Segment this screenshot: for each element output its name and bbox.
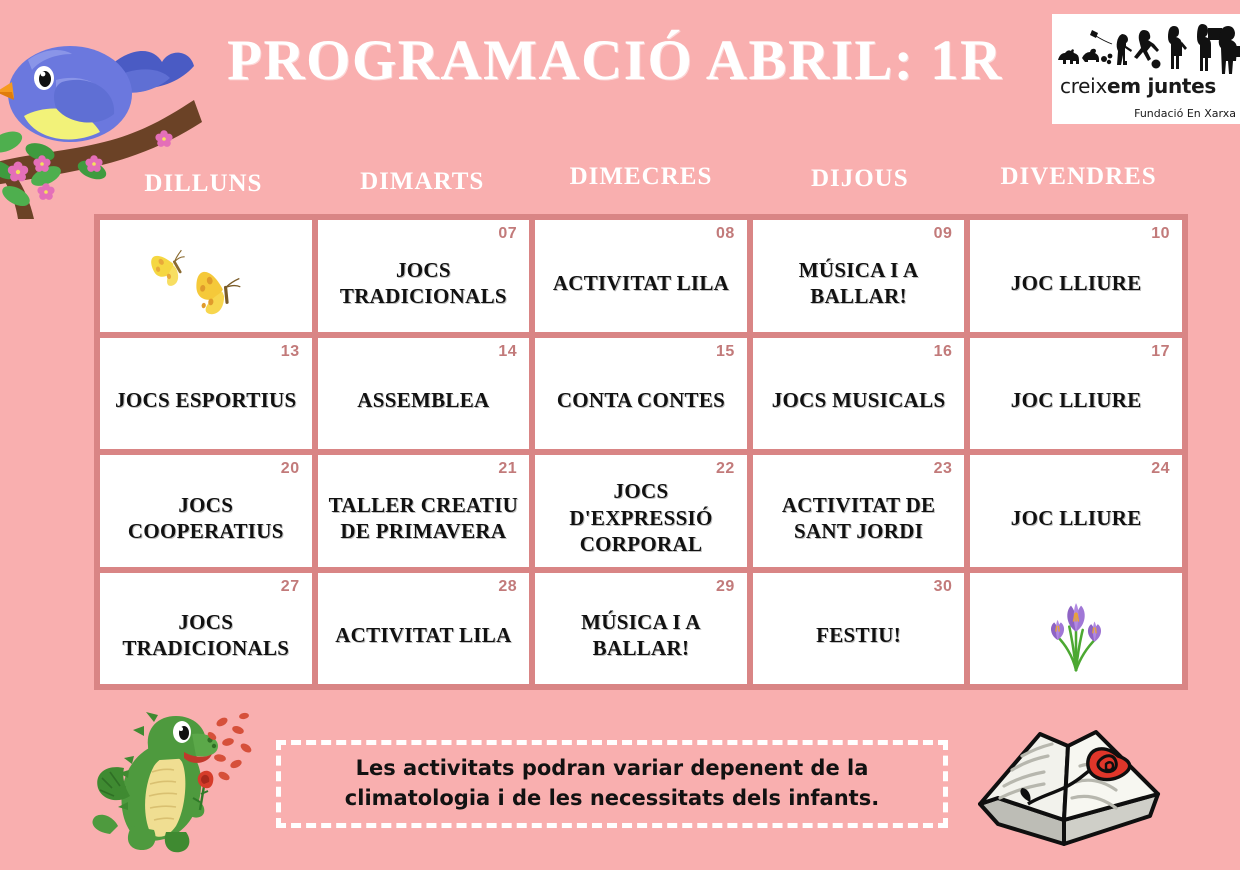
cell-activity-label: JOC LLIURE <box>1011 505 1142 531</box>
calendar-cell[interactable]: 13 JOCS ESPORTIUS <box>100 338 312 450</box>
cell-activity-label: JOCS MUSICALS <box>772 387 946 413</box>
dragon-with-rose-illustration <box>88 706 268 861</box>
calendar-cell[interactable]: 27 JOCS TRADICIONALS <box>100 573 312 685</box>
disclaimer-text: Les activitats podran variar depenent de… <box>303 754 921 814</box>
calendar-cell[interactable]: 08 ACTIVITAT LILA <box>535 220 747 332</box>
cell-activity-label: JOCS ESPORTIUS <box>115 387 296 413</box>
cell-date: 08 <box>716 225 735 243</box>
weekday-dijous: DIJOUS <box>750 163 969 198</box>
calendar-cell[interactable]: 28 ACTIVITAT LILA <box>318 573 530 685</box>
cell-activity-label: JOCS D'EXPRESSIÓ CORPORAL <box>543 478 739 557</box>
cell-activity-label: MÚSICA I A BALLAR! <box>761 257 957 310</box>
calendar-cell[interactable]: 24 JOC LLIURE <box>970 455 1182 567</box>
calendar-cell[interactable]: 30 FESTIU! <box>753 573 965 685</box>
cell-activity-label: ACTIVITAT DE SANT JORDI <box>761 492 957 545</box>
cell-date: 17 <box>1151 343 1170 361</box>
logo-word-part2: em juntes <box>1107 74 1216 98</box>
calendar-cell[interactable]: 14 ASSEMBLEA <box>318 338 530 450</box>
cell-date: 22 <box>716 460 735 478</box>
calendar-cell[interactable]: 23 ACTIVITAT DE SANT JORDI <box>753 455 965 567</box>
weekday-dilluns: DILLUNS <box>94 163 313 198</box>
cell-date: 21 <box>498 460 517 478</box>
cell-date: 29 <box>716 578 735 596</box>
cell-date: 14 <box>498 343 517 361</box>
weekday-header-row: DILLUNS DIMARTS DIMECRES DIJOUS DIVENDRE… <box>94 163 1188 198</box>
cell-date: 10 <box>1151 225 1170 243</box>
calendar-cell[interactable]: 07 JOCS TRADICIONALS <box>318 220 530 332</box>
cell-activity-label: MÚSICA I A BALLAR! <box>543 609 739 662</box>
cell-activity-label: JOC LLIURE <box>1011 270 1142 296</box>
cell-activity-label: JOCS COOPERATIUS <box>108 492 304 545</box>
cell-activity-label: JOCS TRADICIONALS <box>326 257 522 310</box>
crocus-flowers-illustration <box>978 595 1174 677</box>
logo-word-part1: creix <box>1060 74 1107 98</box>
calendar-cell[interactable]: 20 JOCS COOPERATIUS <box>100 455 312 567</box>
cell-activity-label: ASSEMBLEA <box>357 387 489 413</box>
logo-subtitle: Fundació En Xarxa <box>1134 107 1236 120</box>
cell-date: 07 <box>498 225 517 243</box>
cell-date: 15 <box>716 343 735 361</box>
weekday-dimarts: DIMARTS <box>313 163 532 198</box>
calendar-cell[interactable]: 22 JOCS D'EXPRESSIÓ CORPORAL <box>535 455 747 567</box>
cell-activity-label: CONTA CONTES <box>557 387 725 413</box>
calendar-grid: 07 JOCS TRADICIONALS 08 ACTIVITAT LILA 0… <box>94 214 1188 690</box>
butterflies-illustration <box>108 242 304 324</box>
cell-date: 20 <box>281 460 300 478</box>
cell-date: 27 <box>281 578 300 596</box>
page-title: PROGRAMACIÓ ABRIL: 1R <box>200 28 1030 93</box>
cell-date: 30 <box>934 578 953 596</box>
calendar-cell[interactable] <box>100 220 312 332</box>
cell-date: 28 <box>498 578 517 596</box>
organization-logo: creixem juntes Fundació En Xarxa <box>1052 14 1240 124</box>
calendar-cell[interactable]: 15 CONTA CONTES <box>535 338 747 450</box>
weekday-divendres: DIVENDRES <box>969 163 1188 198</box>
calendar-cell[interactable]: 10 JOC LLIURE <box>970 220 1182 332</box>
calendar-cell[interactable]: 29 MÚSICA I A BALLAR! <box>535 573 747 685</box>
cell-activity-label: JOC LLIURE <box>1011 387 1142 413</box>
cell-activity-label: JOCS TRADICIONALS <box>108 609 304 662</box>
cell-activity-label: ACTIVITAT LILA <box>553 270 729 296</box>
calendar-cell[interactable]: 21 TALLER CREATIU DE PRIMAVERA <box>318 455 530 567</box>
cell-date: 16 <box>934 343 953 361</box>
cell-activity-label: TALLER CREATIU DE PRIMAVERA <box>326 492 522 545</box>
calendar-cell[interactable]: 16 JOCS MUSICALS <box>753 338 965 450</box>
cell-date: 24 <box>1151 460 1170 478</box>
logo-wordmark: creixem juntes <box>1060 74 1216 98</box>
calendar-cell[interactable]: 09 MÚSICA I A BALLAR! <box>753 220 965 332</box>
cell-date: 13 <box>281 343 300 361</box>
calendar-cell[interactable]: 17 JOC LLIURE <box>970 338 1182 450</box>
calendar-cell[interactable] <box>970 573 1182 685</box>
disclaimer-note: Les activitats podran variar depenent de… <box>276 740 948 828</box>
cell-date: 09 <box>934 225 953 243</box>
cell-date: 23 <box>934 460 953 478</box>
cell-activity-label: FESTIU! <box>816 622 901 648</box>
weekday-dimecres: DIMECRES <box>532 163 751 198</box>
cell-activity-label: ACTIVITAT LILA <box>335 622 511 648</box>
open-book-with-rose-illustration <box>968 712 1173 862</box>
